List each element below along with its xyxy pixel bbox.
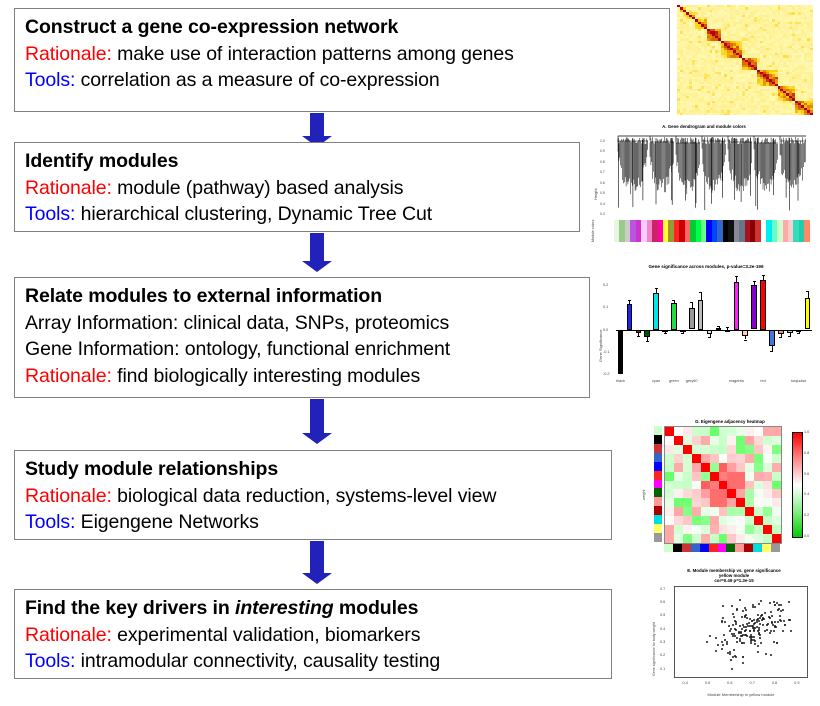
heatmap-cell [736, 472, 745, 481]
heatmap-cell [772, 498, 781, 507]
barplot-error-cap [788, 336, 791, 337]
heatmap-cell [745, 534, 754, 543]
heatmap-cell [665, 436, 674, 445]
barplot-xtick: magenta [727, 379, 745, 383]
barplot-error-cap [690, 302, 693, 303]
eigengene-matrix [664, 426, 782, 544]
scatter-point [747, 625, 749, 627]
module-color-swatch [804, 220, 809, 242]
heatmap-cell [692, 516, 701, 525]
heatmap-cell [754, 516, 763, 525]
scatter-point [721, 641, 723, 643]
heatmap-cell [692, 427, 701, 436]
scatter-point [758, 620, 760, 622]
heatmap-cell [727, 463, 736, 472]
dendrogram-title: A. Gene dendrogram and module colors [588, 124, 820, 129]
barplot-bar [689, 308, 695, 329]
barplot-bar [653, 293, 659, 330]
heading-part-1: Find the key drivers in [25, 597, 235, 619]
scatter-point [715, 637, 717, 639]
scatter-point [762, 624, 764, 626]
heatmap-cell [692, 481, 701, 490]
scatter-point [709, 635, 711, 637]
heading-emphasis: interesting [235, 597, 334, 619]
step-row: Rationale: make use of interaction patte… [25, 41, 661, 68]
scatter-point [770, 654, 772, 656]
heatmap-cell [665, 534, 674, 543]
barplot-xtick: green [665, 379, 683, 383]
heatmap-cell [745, 498, 754, 507]
barplot-error-cap [699, 292, 702, 293]
scatter-point [754, 606, 756, 608]
tools-text: correlation as a measure of co-expressio… [75, 69, 439, 91]
heatmap-cell [665, 454, 674, 463]
scatter-point [736, 641, 738, 643]
heatmap-cell [763, 489, 772, 498]
heatmap-cell [736, 489, 745, 498]
scatter-point [780, 604, 782, 606]
barplot-xtick: red [754, 379, 772, 383]
figure-tom-heatmap [677, 5, 813, 115]
scatter-point [748, 622, 750, 624]
heatmap-cell [772, 472, 781, 481]
heatmap-cell [674, 445, 683, 454]
figure-module-membership-scatter: E. Module membership vs. gene significan… [648, 566, 820, 704]
scatter-point [741, 628, 743, 630]
barplot-error-cap [779, 337, 782, 338]
heatmap-cell [763, 472, 772, 481]
scatter-point [732, 613, 734, 615]
dendrogram-ytick: 1.0 [600, 139, 605, 143]
heatmap-cell [763, 427, 772, 436]
heatmap-cell [745, 445, 754, 454]
scatter-point [774, 621, 776, 623]
heatmap-cell [719, 454, 728, 463]
scatter-point [760, 600, 762, 602]
scatter-point [728, 625, 730, 627]
heatmap-cell [692, 463, 701, 472]
heatmap-cell [736, 427, 745, 436]
heatmap-cell [665, 445, 674, 454]
step-row: Array Information: clinical data, SNPs, … [25, 310, 581, 337]
heatmap-cell [710, 516, 719, 525]
scatter-point [744, 630, 746, 632]
scatter-point [769, 632, 771, 634]
scatter-point [740, 635, 742, 637]
heatmap-cell [710, 481, 719, 490]
scatter-point [773, 601, 775, 603]
heatmap-cell [665, 498, 674, 507]
scatter-point [732, 624, 734, 626]
heatmap-cell [719, 507, 728, 516]
heatmap-cell [692, 534, 701, 543]
eigengene-row-swatch [654, 497, 662, 506]
scatter-point [741, 642, 743, 644]
heatmap-cell [710, 489, 719, 498]
scatter-xlabel: Module Membership in yellow module [674, 692, 808, 697]
scatter-point [721, 620, 723, 622]
heatmap-cell [683, 454, 692, 463]
heatmap-cell [674, 427, 683, 436]
heatmap-cell [736, 498, 745, 507]
eigengene-col-swatch [682, 544, 691, 552]
scatter-point [788, 619, 790, 621]
scatter-ytick: 0.6 [660, 600, 665, 604]
barplot-xtick: grey60 [683, 379, 701, 383]
scatter-point [753, 623, 755, 625]
scatter-ytick: 0.1 [660, 667, 665, 671]
heatmap-cell [745, 436, 754, 445]
scatter-point [740, 632, 742, 634]
heatmap-cell [736, 445, 745, 454]
scatter-point [776, 642, 778, 644]
heatmap-cell [710, 427, 719, 436]
heatmap-cell [674, 507, 683, 516]
scatter-point [754, 643, 756, 645]
eigengene-row-swatch [654, 471, 662, 480]
scatter-point [757, 614, 759, 616]
heatmap-cell [772, 516, 781, 525]
scatter-point [733, 649, 735, 651]
scatter-point [773, 641, 775, 643]
eigengene-col-swatch [664, 544, 673, 552]
flow-arrow-3 [302, 399, 332, 445]
scatter-point [764, 630, 766, 632]
heatmap-cell [665, 525, 674, 534]
heatmap-cell [763, 463, 772, 472]
scatter-point [717, 644, 719, 646]
scatter-point [760, 642, 762, 644]
heatmap-cell [665, 481, 674, 490]
barplot-ylabel: Gene Significance [598, 330, 603, 362]
scatter-point [757, 651, 759, 653]
step-row: Tools: hierarchical clustering, Dynamic … [25, 201, 571, 228]
heatmap-cell [736, 436, 745, 445]
barplot-error-cap [628, 300, 631, 301]
barplot-bar [769, 330, 775, 347]
scatter-point [739, 599, 741, 601]
scatter-point [759, 637, 761, 639]
barplot-title: Gene significance across modules, p-valu… [592, 264, 820, 269]
scatter-point [723, 634, 725, 636]
scatter-ytick: 0.4 [660, 627, 665, 631]
eigengene-col-swatch [735, 544, 744, 552]
colorbar-tick: 0.6 [804, 472, 809, 476]
heatmap-cell [701, 516, 710, 525]
heatmap-cell [719, 436, 728, 445]
barplot-bar [671, 303, 677, 330]
eigengene-row-swatch [654, 462, 662, 471]
rationale-tag: Rationale: [25, 177, 112, 199]
scatter-point [753, 630, 755, 632]
heatmap-cell [674, 454, 683, 463]
colorbar-tick: 0.4 [804, 492, 809, 496]
barplot-error-cap [753, 281, 756, 282]
heatmap-cell [727, 454, 736, 463]
dendrogram-ytick: 0.5 [600, 191, 605, 195]
figure-eigengene-heatmap: D. Eigengene adjacency heatmap weight 1.… [640, 418, 820, 560]
barplot-error-cap [797, 333, 800, 334]
heatmap-cell [727, 534, 736, 543]
eigengene-colorbar [792, 432, 803, 538]
heatmap-cell [665, 463, 674, 472]
scatter-point [742, 634, 744, 636]
heatmap-cell [727, 481, 736, 490]
heatmap-cell [683, 472, 692, 481]
scatter-point [762, 617, 764, 619]
heatmap-cell [745, 427, 754, 436]
heatmap-cell [683, 516, 692, 525]
scatter-ytick: 0.7 [660, 587, 665, 591]
colorbar-tick: 0.0 [804, 534, 809, 538]
heatmap-cell [719, 472, 728, 481]
barplot-xtick: turquoise [790, 379, 808, 383]
heatmap-cell [727, 436, 736, 445]
eigengene-row-swatch [654, 488, 662, 497]
step-heading: Construct a gene co-expression network [25, 14, 661, 41]
heatmap-cell [754, 525, 763, 534]
scatter-point [749, 625, 751, 627]
heatmap-cell [674, 463, 683, 472]
scatter-point [726, 643, 728, 645]
scatter-point [750, 638, 752, 640]
heatmap-cell [719, 489, 728, 498]
heatmap-cell [745, 525, 754, 534]
heatmap-cell [719, 516, 728, 525]
scatter-point [735, 623, 737, 625]
heatmap-cell [745, 481, 754, 490]
scatter-point [742, 624, 744, 626]
scatter-point [722, 605, 724, 607]
barplot-ytick: 0.2 [603, 283, 608, 287]
heatmap-cell [701, 445, 710, 454]
heatmap-cell [772, 454, 781, 463]
scatter-point [749, 630, 751, 632]
scatter-point [743, 642, 745, 644]
heatmap-cell [727, 498, 736, 507]
scatter-point [769, 602, 771, 604]
barplot-ytick: -0.1 [603, 350, 610, 354]
heatmap-cell [683, 489, 692, 498]
scatter-point [750, 642, 752, 644]
heatmap-cell [763, 445, 772, 454]
scatter-point [782, 630, 784, 632]
scatter-point [765, 653, 767, 655]
scatter-point [776, 602, 778, 604]
rationale-tag: Rationale: [25, 485, 112, 507]
scatter-point [783, 620, 785, 622]
scatter-ytick: 0.5 [660, 613, 665, 617]
tools-tag: Tools: [25, 511, 75, 533]
scatter-point [756, 621, 758, 623]
rationale-text: make use of interaction patterns among g… [112, 43, 514, 65]
scatter-point [741, 616, 743, 618]
heatmap-cell [665, 427, 674, 436]
scatter-point [746, 617, 748, 619]
eigengene-row-swatch [654, 426, 662, 435]
heatmap-cell [727, 445, 736, 454]
tools-tag: Tools: [25, 650, 75, 672]
scatter-point [758, 633, 760, 635]
heatmap-cell [710, 498, 719, 507]
heatmap-cell [692, 489, 701, 498]
barplot-bar [716, 328, 722, 330]
eigengene-row-swatch [654, 533, 662, 542]
flow-step-find-key-drivers: Find the key drivers in interesting modu… [14, 589, 612, 679]
eigengene-col-swatch [753, 544, 762, 552]
heatmap-cell [674, 534, 683, 543]
step-row: Rationale: experimental validation, biom… [25, 622, 603, 649]
scatter-xtick: 0.8 [770, 681, 780, 685]
heatmap-cell [772, 427, 781, 436]
scatter-point [753, 619, 755, 621]
scatter-point [734, 620, 736, 622]
scatter-point [722, 617, 724, 619]
scatter-point [771, 622, 773, 624]
scatter-point [739, 638, 741, 640]
scatter-point [770, 630, 772, 632]
heatmap-cell [674, 481, 683, 490]
scatter-point [766, 624, 768, 626]
scatter-point [757, 645, 759, 647]
heatmap-cell [665, 507, 674, 516]
barplot-error-cap [726, 327, 729, 328]
tools-text: Eigengene Networks [75, 511, 258, 533]
heatmap-cell [754, 427, 763, 436]
heatmap-cell [754, 489, 763, 498]
heatmap-cell [683, 436, 692, 445]
scatter-point [788, 601, 790, 603]
heatmap-cell [710, 463, 719, 472]
heatmap-cell [736, 481, 745, 490]
heatmap-cell [719, 534, 728, 543]
eigengene-row-swatch [654, 453, 662, 462]
scatter-point [774, 604, 776, 606]
heatmap-cell [727, 525, 736, 534]
heatmap-cell [701, 436, 710, 445]
heatmap-cell [692, 454, 701, 463]
scatter-point [784, 624, 786, 626]
heatmap-cell [701, 534, 710, 543]
heatmap-cell [674, 516, 683, 525]
eigengene-col-swatch [673, 544, 682, 552]
heatmap-cell [772, 525, 781, 534]
barplot-error-cap [681, 333, 684, 334]
scatter-point [715, 650, 717, 652]
barplot-error-bar [808, 291, 809, 299]
heatmap-cell [692, 525, 701, 534]
heatmap-cell [754, 454, 763, 463]
tools-tag: Tools: [25, 203, 75, 225]
heatmap-cell [745, 489, 754, 498]
scatter-point [753, 636, 755, 638]
barplot-xtick: black [612, 379, 630, 383]
heatmap-cell [692, 498, 701, 507]
step-row: Tools: intramodular connectivity, causal… [25, 648, 603, 675]
heatmap-cell [772, 507, 781, 516]
scatter-point [774, 625, 776, 627]
figure-gene-dendrogram: A. Gene dendrogram and module colors Hei… [588, 122, 820, 257]
heatmap-cell [736, 507, 745, 516]
heatmap-cell [701, 489, 710, 498]
module-color-band [614, 220, 810, 242]
heatmap-cell [701, 525, 710, 534]
scatter-point [756, 626, 758, 628]
rationale-tag: Rationale: [25, 624, 112, 646]
step-heading: Study module relationships [25, 456, 603, 483]
eigengene-col-swatch [709, 544, 718, 552]
heatmap-cell [719, 498, 728, 507]
heatmap-cell [683, 463, 692, 472]
barplot-error-cap [672, 300, 675, 301]
barplot-ytick: 0.0 [603, 328, 608, 332]
heatmap-cell [772, 534, 781, 543]
heatmap-cell [701, 427, 710, 436]
barplot-error-bar [736, 276, 737, 282]
step-row: Tools: Eigengene Networks [25, 509, 603, 536]
barplot-error-cap [806, 291, 809, 292]
scatter-point [782, 609, 784, 611]
heatmap-cell [674, 436, 683, 445]
scatter-point [724, 621, 726, 623]
barplot-bar [805, 298, 811, 329]
scatter-ytick: 0.3 [660, 640, 665, 644]
heatmap-cell [754, 534, 763, 543]
barplot-bar [725, 330, 731, 332]
scatter-point [779, 615, 781, 617]
eigengene-row-colors [654, 426, 662, 542]
heatmap-cell [701, 481, 710, 490]
heatmap-cell [727, 489, 736, 498]
eigengene-ylabel: weight [642, 490, 646, 500]
barplot-error-bar [763, 275, 764, 280]
step-heading: Find the key drivers in interesting modu… [25, 595, 603, 622]
eigengene-row-swatch [654, 506, 662, 515]
scatter-point [706, 641, 708, 643]
scatter-point [731, 605, 733, 607]
heatmap-cell [754, 507, 763, 516]
dendrogram-ytick: 0.7 [600, 170, 605, 174]
rationale-text: find biologically interesting modules [112, 365, 420, 387]
heatmap-cell [674, 472, 683, 481]
scatter-point [764, 612, 766, 614]
scatter-point [752, 625, 754, 627]
heatmap-cell [692, 472, 701, 481]
gene-information-text: Gene Information: ontology, functional e… [25, 338, 450, 360]
dendrogram-ytick: 0.9 [600, 149, 605, 153]
heatmap-cell [763, 498, 772, 507]
scatter-point [731, 668, 733, 670]
scatter-ylabel: Gene significance for body weight [652, 622, 656, 676]
heatmap-cell [736, 534, 745, 543]
step-row: Rationale: find biologically interesting… [25, 363, 581, 390]
dendrogram-ytick: 0.6 [600, 181, 605, 185]
scatter-point [759, 623, 761, 625]
heatmap-cell [727, 472, 736, 481]
heatmap-cell [710, 454, 719, 463]
barplot-bar [751, 285, 757, 329]
heatmap-cell [763, 516, 772, 525]
scatter-ytick: 0.2 [660, 653, 665, 657]
scatter-point [742, 662, 744, 664]
scatter-point [738, 631, 740, 633]
heatmap-cell [692, 507, 701, 516]
heatmap-cell [763, 534, 772, 543]
figure-gene-significance-barplot: Gene significance across modules, p-valu… [592, 262, 820, 397]
scatter-point [743, 626, 745, 628]
barplot-error-cap [735, 276, 738, 277]
heatmap-cell [683, 445, 692, 454]
